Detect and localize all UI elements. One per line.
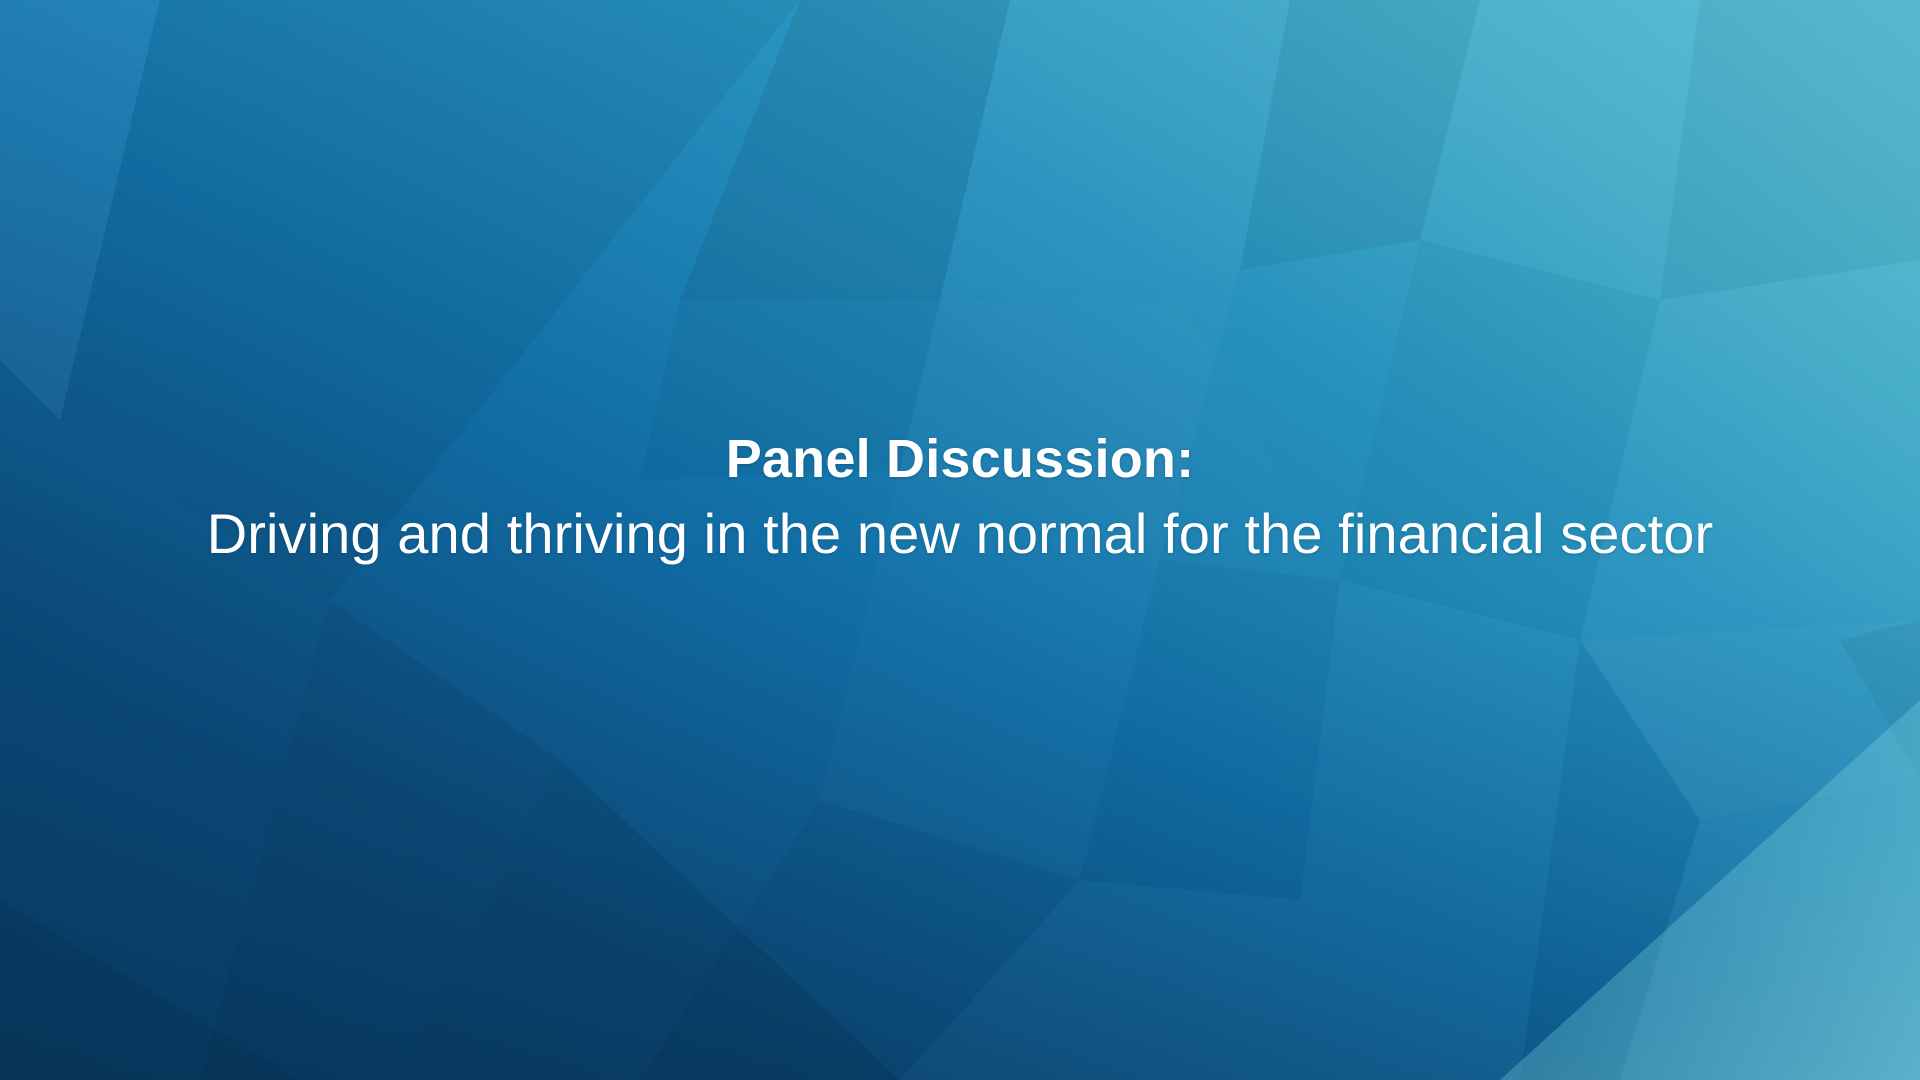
- slide-subtitle: Driving and thriving in the new normal f…: [207, 506, 1714, 562]
- presentation-slide: Panel Discussion: Driving and thriving i…: [0, 0, 1920, 1080]
- slide-title: Panel Discussion:: [726, 432, 1195, 486]
- slide-content: Panel Discussion: Driving and thriving i…: [0, 0, 1920, 1080]
